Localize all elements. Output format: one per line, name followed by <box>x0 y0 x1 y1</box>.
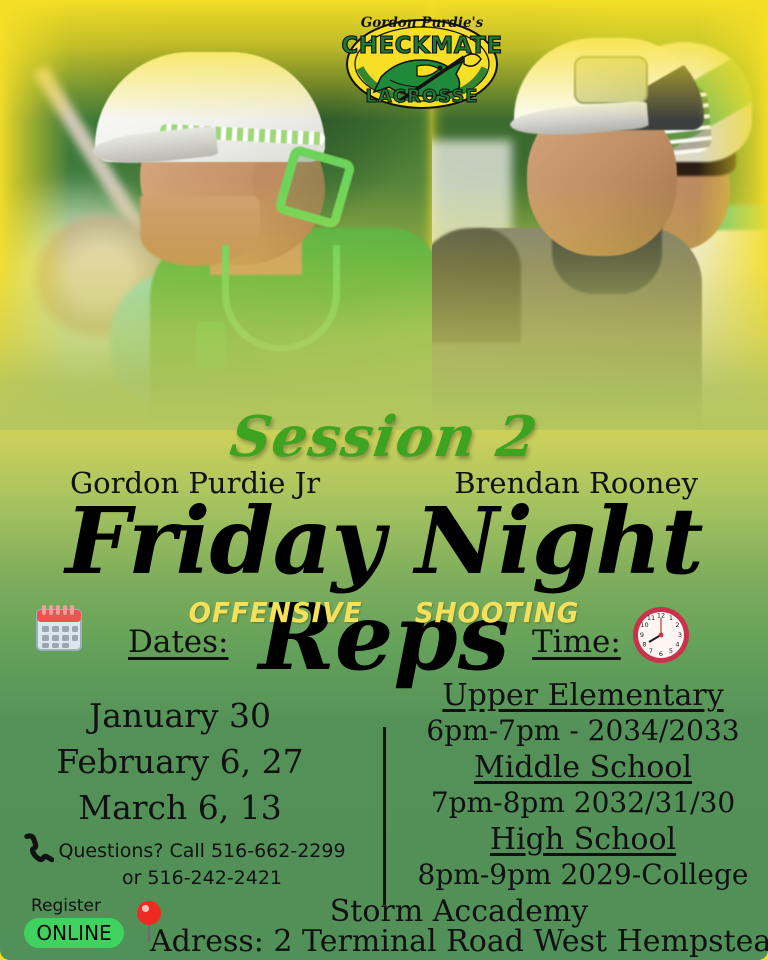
time-group-high-school: High School 8pm-9pm 2029-College <box>398 823 768 893</box>
clock-icon: 1212 345 678 91011 <box>630 604 692 666</box>
time-group-middle-school: Middle School 7pm-8pm 2032/31/30 <box>398 751 768 821</box>
dates-list: January 30 February 6, 27 March 6, 13 <box>0 693 360 831</box>
group-name: Middle School <box>398 751 768 785</box>
svg-text:1: 1 <box>669 614 673 622</box>
group-detail: 7pm-8pm 2032/31/30 <box>398 785 768 821</box>
svg-text:8: 8 <box>642 641 646 649</box>
group-detail: 6pm-7pm - 2034/2033 <box>398 713 768 749</box>
dates-label: Dates: <box>128 624 229 660</box>
contact-info: Questions? Call 516-662-2299 or 516-242-… <box>52 838 352 892</box>
flyer-poster: Gordon Purdie's CHECKMATE LACROSSE Sessi… <box>0 0 768 960</box>
svg-text:5: 5 <box>669 647 673 655</box>
date-item-3: March 6, 13 <box>0 785 360 831</box>
svg-text:6: 6 <box>659 650 663 658</box>
main-title-line1: Friday Night <box>0 502 768 580</box>
svg-text:2: 2 <box>675 621 679 629</box>
venue-address: Adress: 2 Terminal Road West Hempstead <box>150 925 768 959</box>
phone-icon <box>20 833 54 867</box>
svg-text:10: 10 <box>640 621 648 629</box>
time-group-upper-elementary: Upper Elementary 6pm-7pm - 2034/2033 <box>398 679 768 749</box>
register-label: Register <box>31 896 101 916</box>
svg-text:3: 3 <box>678 631 682 639</box>
svg-text:4: 4 <box>675 641 679 649</box>
group-detail: 8pm-9pm 2029-College <box>398 857 768 893</box>
contact-line-1[interactable]: Questions? Call 516-662-2299 <box>52 838 352 865</box>
calendar-icon <box>33 602 85 654</box>
contact-line-2[interactable]: or 516-242-2421 <box>52 865 352 892</box>
date-item-1: January 30 <box>0 693 360 739</box>
time-groups: Upper Elementary 6pm-7pm - 2034/2033 Mid… <box>398 679 768 895</box>
content-layer: Session 2 Gordon Purdie Jr Brendan Roone… <box>0 0 768 960</box>
time-label: Time: <box>532 624 621 660</box>
column-divider <box>383 727 386 905</box>
group-name: High School <box>398 823 768 857</box>
svg-text:7: 7 <box>649 647 653 655</box>
register-online-button[interactable]: ONLINE <box>24 918 124 948</box>
date-item-2: February 6, 27 <box>0 739 360 785</box>
svg-text:11: 11 <box>647 614 655 622</box>
group-name: Upper Elementary <box>398 679 768 713</box>
session-title: Session 2 <box>0 404 768 470</box>
svg-text:9: 9 <box>640 631 644 639</box>
